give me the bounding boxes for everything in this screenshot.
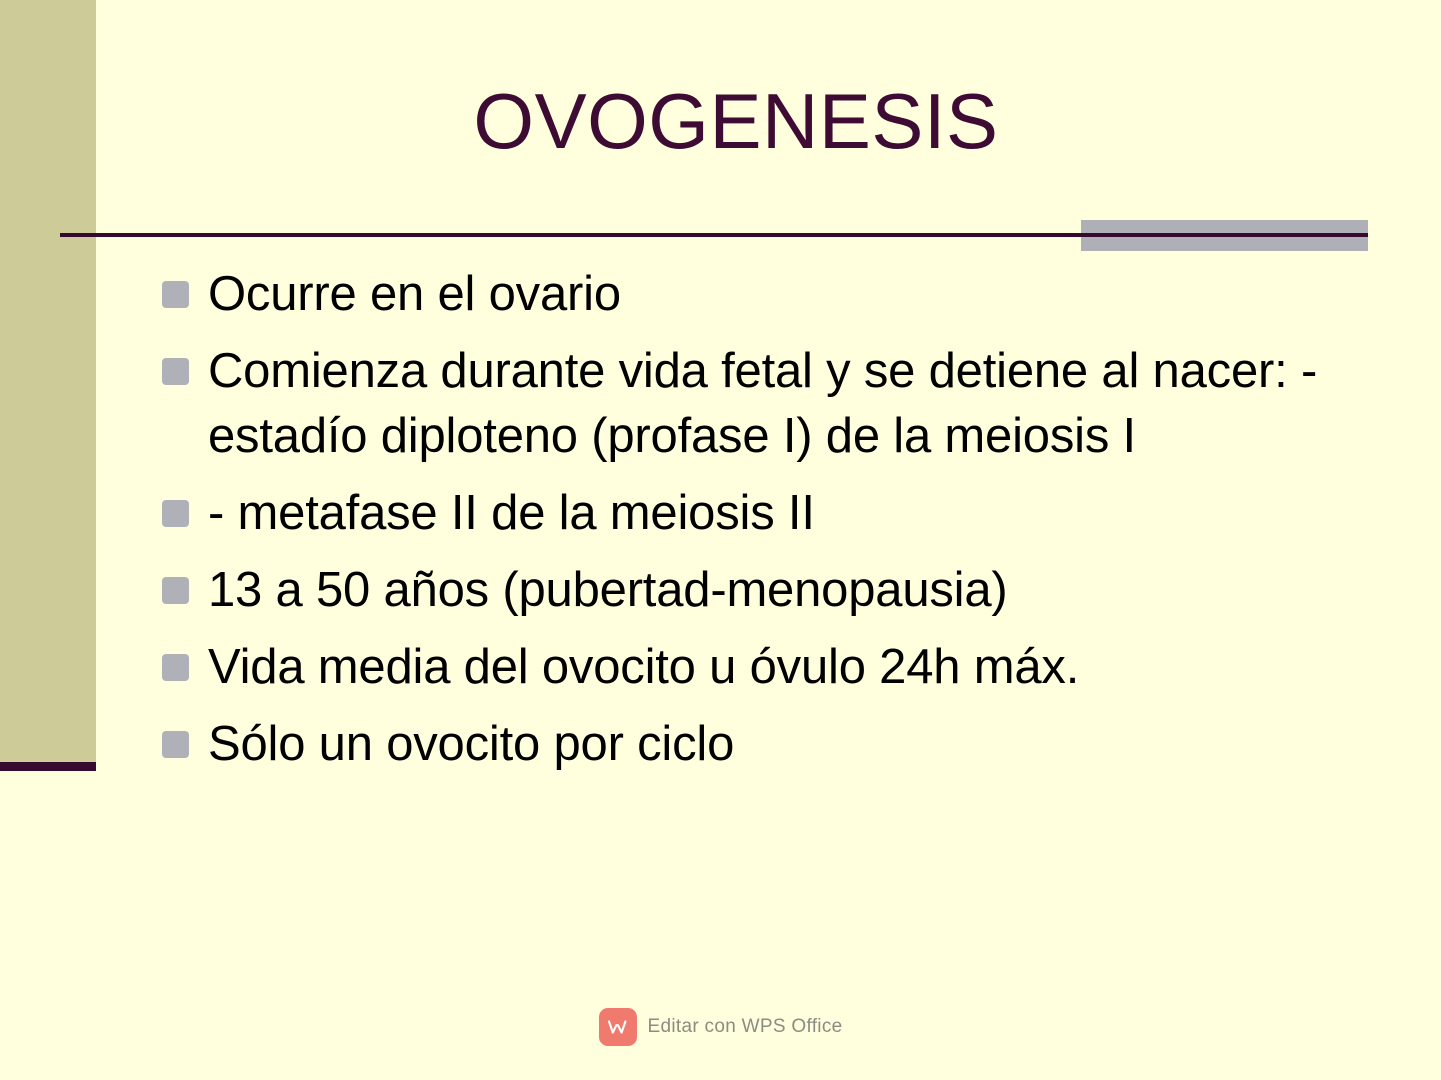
left-accent-band: [0, 0, 96, 762]
wps-office-logo-icon: [599, 1008, 637, 1046]
square-bullet-icon: [162, 577, 189, 604]
square-bullet-icon: [162, 358, 189, 385]
square-bullet-icon: [162, 654, 189, 681]
square-bullet-icon: [162, 281, 189, 308]
list-item-label: 13 a 50 años (pubertad-menopausia): [208, 558, 1342, 623]
list-item: - metafase II de la meiosis II: [162, 481, 1342, 546]
list-item: Ocurre en el ovario: [162, 262, 1342, 327]
list-item: Sólo un ovocito por ciclo: [162, 712, 1342, 777]
slide-title: OVOGENESIS: [96, 82, 1376, 160]
list-item: 13 a 50 años (pubertad-menopausia): [162, 558, 1342, 623]
left-accent-band-footer-bar: [0, 762, 96, 771]
title-divider-rule: [60, 233, 1368, 237]
list-item-label: Vida media del ovocito u óvulo 24h máx.: [208, 635, 1342, 700]
square-bullet-icon: [162, 731, 189, 758]
bullet-list: Ocurre en el ovario Comienza durante vid…: [162, 262, 1342, 789]
list-item: Comienza durante vida fetal y se detiene…: [162, 339, 1342, 469]
square-bullet-icon: [162, 500, 189, 527]
wps-edit-watermark[interactable]: Editar con WPS Office: [0, 1008, 1441, 1046]
wps-edit-label: Editar con WPS Office: [648, 1016, 843, 1038]
list-item-label: - metafase II de la meiosis II: [208, 481, 1342, 546]
list-item: Vida media del ovocito u óvulo 24h máx.: [162, 635, 1342, 700]
presentation-slide: OVOGENESIS Ocurre en el ovario Comienza …: [0, 0, 1441, 1080]
list-item-label: Ocurre en el ovario: [208, 262, 1342, 327]
list-item-label: Comienza durante vida fetal y se detiene…: [208, 339, 1342, 469]
list-item-label: Sólo un ovocito por ciclo: [208, 712, 1342, 777]
